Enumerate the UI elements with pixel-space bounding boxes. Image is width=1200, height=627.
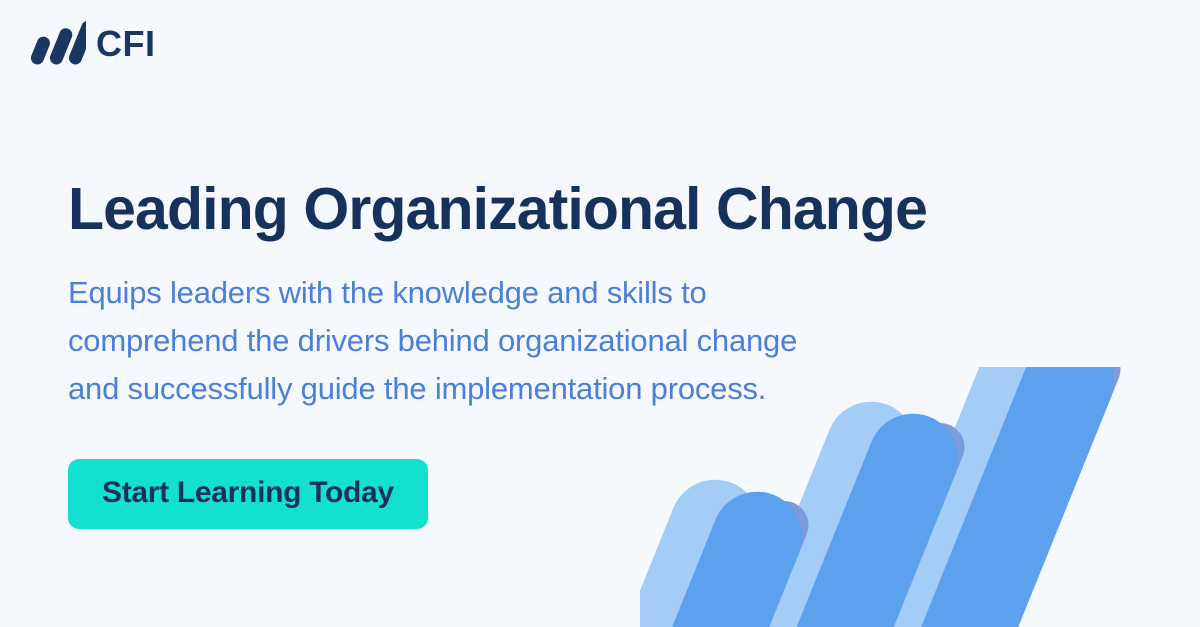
cfi-logo-text: CFI [96,26,156,62]
cfi-logo[interactable]: CFI [24,16,156,72]
hero-description-line-3: and successfully guide the implementatio… [68,365,1048,413]
course-promo-banner: CFI Leading Organizational Change Equips… [0,0,1200,627]
start-learning-button[interactable]: Start Learning Today [68,459,428,529]
page-title: Leading Organizational Change [68,178,1148,241]
hero-description-line-2: comprehend the drivers behind organizati… [68,317,1048,365]
hero-description-line-1: Equips leaders with the knowledge and sk… [68,269,1048,317]
cfi-three-bars-logo-icon [24,20,86,68]
hero-description: Equips leaders with the knowledge and sk… [68,269,1048,413]
hero-content: Leading Organizational Change Equips lea… [68,178,1148,529]
